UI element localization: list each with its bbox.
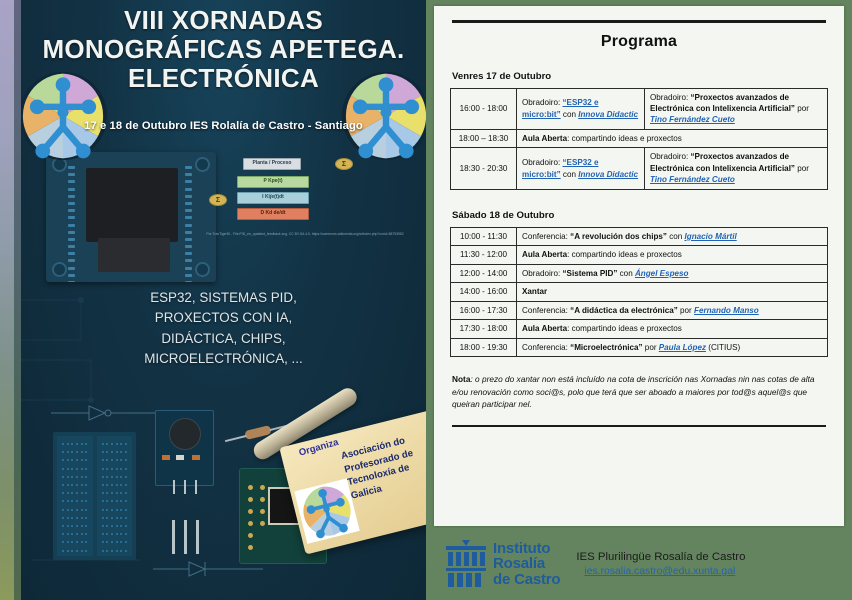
- session-suffix: : compartindo ideas e proxectos: [567, 250, 682, 259]
- keyword-line-1: ESP32, SISTEMAS PID,: [21, 288, 426, 308]
- top-divider-rule: [452, 20, 826, 23]
- row-session: Conferencia: “A didáctica da electrónica…: [517, 301, 828, 319]
- poster-subtitle: 17 e 18 de Outubro IES Rolalía de Castro…: [21, 120, 426, 132]
- session-suffix: (CITIUS): [706, 343, 740, 352]
- row-time: 10:00 - 11:30: [451, 227, 517, 245]
- sensor-resistor: [162, 455, 170, 460]
- friday-heading: Venres 17 de Outubro: [452, 71, 828, 82]
- poster-title: VIII XORNADAS MONOGRÁFICAS APETEGA. ELEC…: [21, 6, 426, 93]
- session-speaker-link[interactable]: Paula López: [659, 343, 706, 352]
- session-title: “Sistema PID”: [563, 269, 618, 278]
- esp32-chip: [86, 168, 178, 242]
- board-hole: [195, 157, 210, 172]
- row-session-full: Aula Aberta: compartindo ideas e proxect…: [517, 129, 828, 147]
- session-speaker-link[interactable]: Fernando Manso: [694, 306, 759, 315]
- session-speaker-link[interactable]: Tino Fernández Cueto: [650, 175, 735, 184]
- pid-sum-node-input: Σ: [209, 194, 227, 206]
- school-email-link[interactable]: ies.rosalia.castro@edu.xunta.gal: [584, 566, 745, 577]
- friday-schedule-table: 16:00 - 18:00 Obradoiro: “ESP32 e micro:…: [450, 88, 828, 190]
- table-row: 18:30 - 20:30 Obradoiro: “ESP32 e micro:…: [451, 148, 828, 189]
- session-prefix: Obradoiro:: [522, 269, 563, 278]
- event-poster: VIII XORNADAS MONOGRÁFICAS APETEGA. ELEC…: [0, 0, 426, 600]
- row-session: Xantar: [517, 283, 828, 301]
- school-name: IES Plurilingüe Rosalía de Castro: [576, 551, 745, 563]
- program-title: Programa: [450, 33, 828, 51]
- row-session: Obradoiro: “Sistema PID” con Ángel Espes…: [517, 264, 828, 282]
- row-session: Conferencia: “Microelectrónica” por Paul…: [517, 338, 828, 356]
- session-join: por: [643, 343, 659, 352]
- session-title: Aula Aberta: [522, 250, 567, 259]
- nota-body: : o prezo do xantar non está incluído na…: [452, 374, 815, 409]
- sensor-can: [169, 418, 201, 450]
- page-footer: Instituto Rosalía de Castro IES Plurilin…: [426, 528, 852, 600]
- logo-line-3: de Castro: [493, 572, 560, 587]
- session-speaker-link[interactable]: Ángel Espeso: [635, 269, 689, 278]
- bottom-divider-rule: [452, 425, 826, 428]
- session-title: Xantar: [522, 287, 547, 296]
- sensor-module-image: [155, 410, 214, 486]
- session-prefix: Conferencia:: [522, 343, 570, 352]
- row-time: 12:00 - 14:00: [451, 264, 517, 282]
- row-session: Conferencia: “A revolución dos chips” co…: [517, 227, 828, 245]
- row-time: 18:00 - 19:30: [451, 338, 517, 356]
- footer-contact: IES Plurilingüe Rosalía de Castro ies.ro…: [576, 551, 745, 577]
- row-time: 14:00 - 16:00: [451, 283, 517, 301]
- instituto-wordmark: Instituto Rosalía de Castro: [493, 541, 560, 587]
- poster-title-line2: MONOGRÁFICAS APETEGA.: [21, 35, 426, 64]
- board-pin-row-right: [185, 166, 194, 282]
- table-row: 18:00 – 18:30 Aula Aberta: compartindo i…: [451, 129, 828, 147]
- breadboard-holes: [101, 440, 129, 552]
- sensor-pin: [184, 480, 186, 494]
- session-prefix: Obradoiro:: [650, 152, 691, 161]
- board-hole: [195, 262, 210, 277]
- row-time: 17:30 - 18:00: [451, 320, 517, 338]
- saturday-heading: Sábado 18 de Outubro: [452, 210, 828, 221]
- session-speaker-link[interactable]: Tino Fernández Cueto: [650, 115, 735, 124]
- session-speaker-link[interactable]: Ignacio Mártil: [685, 232, 737, 241]
- row-session: Aula Aberta: compartindo ideas e proxect…: [517, 246, 828, 264]
- program-sheet: Programa Venres 17 de Outubro 16:00 - 18…: [434, 6, 844, 526]
- logo-line-1: Instituto: [493, 541, 560, 556]
- row-session-mid: Obradoiro: “ESP32 e micro:bit” con Innov…: [517, 88, 645, 129]
- row-session-right: Obradoiro: “Proxectos avanzados de Elect…: [645, 88, 828, 129]
- session-join: con: [617, 269, 635, 278]
- session-title: “A didáctica da electrónica”: [570, 306, 678, 315]
- session-join: con: [561, 170, 579, 179]
- program-panel: Programa Venres 17 de Outubro 16:00 - 18…: [426, 0, 852, 600]
- esp32-module: [98, 238, 170, 272]
- row-time: 18:30 - 20:30: [451, 148, 517, 189]
- row-session-mid: Obradoiro: “ESP32 e micro:bit” con Innov…: [517, 148, 645, 189]
- building-icon: [444, 540, 488, 588]
- poster-canvas: VIII XORNADAS MONOGRÁFICAS APETEGA. ELEC…: [21, 0, 426, 600]
- table-row: 12:00 - 14:00Obradoiro: “Sistema PID” co…: [451, 264, 828, 282]
- session-join: por: [678, 306, 694, 315]
- pid-i-block: I Ki∫e(t)dt: [237, 192, 309, 204]
- table-row: 14:00 - 16:00Xantar: [451, 283, 828, 301]
- esp32-board-image: [46, 152, 216, 282]
- session-title: Aula Aberta: [522, 324, 567, 333]
- row-session-right: Obradoiro: “Proxectos avanzados de Elect…: [645, 148, 828, 189]
- session-join: con: [667, 232, 685, 241]
- session-prefix: Obradoiro:: [522, 98, 563, 107]
- row-time: 16:00 - 17:30: [451, 301, 517, 319]
- nota-text: Nota: o prezo do xantar non está incluíd…: [452, 373, 826, 410]
- nota-label: Nota: [452, 374, 470, 384]
- session-prefix: Obradoiro:: [522, 158, 563, 167]
- breadboard-column: [57, 436, 93, 556]
- session-speaker-link[interactable]: Innova Didactic: [578, 170, 638, 179]
- session-title: “Microelectrónica”: [570, 343, 642, 352]
- sensor-pin: [173, 480, 175, 494]
- screenshot-root: VIII XORNADAS MONOGRÁFICAS APETEGA. ELEC…: [0, 0, 852, 600]
- instituto-logo: Instituto Rosalía de Castro: [444, 540, 560, 588]
- table-row: 11:30 - 12:00Aula Aberta: compartindo id…: [451, 246, 828, 264]
- image-attribution-text: Por TravTigerDI - File:PID_en_updated_fe…: [205, 232, 405, 237]
- breadboard-image: [53, 432, 136, 560]
- board-pin-row-left: [68, 166, 77, 282]
- session-prefix: Conferencia:: [522, 232, 570, 241]
- session-speaker-link[interactable]: Innova Didactic: [578, 110, 638, 119]
- inverter-gate-symbol: [51, 404, 171, 422]
- session-label: Aula Aberta: [522, 134, 567, 143]
- table-row: 18:00 - 19:30Conferencia: “Microelectrón…: [451, 338, 828, 356]
- session-prefix: Conferencia:: [522, 306, 570, 315]
- session-text: : compartindo ideas e proxectos: [567, 134, 682, 143]
- keyword-line-4: MICROELECTRÓNICA, ...: [21, 349, 426, 369]
- pid-block-diagram: Planta / Proceso P Kpe(t) I Ki∫e(t)dt D …: [217, 158, 407, 230]
- poster-title-line1: VIII XORNADAS: [21, 6, 426, 35]
- breadboard-holes: [61, 440, 89, 552]
- poster-edge-gradient: [0, 0, 14, 600]
- keyword-line-3: DIDÁCTICA, CHIPS,: [21, 329, 426, 349]
- sensor-capacitor: [176, 455, 184, 460]
- sensor-pin: [195, 480, 197, 494]
- row-time: 16:00 - 18:00: [451, 88, 517, 129]
- header-pins-image: [172, 520, 199, 554]
- table-row: 17:30 - 18:00Aula Aberta: compartindo id…: [451, 320, 828, 338]
- sensor-resistor: [192, 455, 200, 460]
- session-title: “A revolución dos chips”: [570, 232, 667, 241]
- table-row: 16:00 - 17:30Conferencia: “A didáctica d…: [451, 301, 828, 319]
- keyword-line-2: PROXECTOS CON IA,: [21, 308, 426, 328]
- pid-d-block: D Kd de/dt: [237, 208, 309, 220]
- session-prefix: Obradoiro:: [650, 93, 691, 102]
- board-hole: [52, 262, 67, 277]
- session-join: por: [795, 164, 809, 173]
- poster-keywords: ESP32, SISTEMAS PID, PROXECTOS CON IA, D…: [21, 288, 426, 370]
- logo-line-2: Rosalía: [493, 556, 560, 571]
- poster-edge-gradient-inner: [14, 0, 21, 600]
- pid-p-block: P Kpe(t): [237, 176, 309, 188]
- poster-title-line3: ELECTRÓNICA: [21, 64, 426, 93]
- session-join: con: [561, 110, 579, 119]
- saturday-schedule-table: 10:00 - 11:30Conferencia: “A revolución …: [450, 227, 828, 357]
- pid-plant-block: Planta / Proceso: [243, 158, 301, 170]
- session-join: por: [795, 104, 809, 113]
- session-suffix: : compartindo ideas e proxectos: [567, 324, 682, 333]
- table-row: 16:00 - 18:00 Obradoiro: “ESP32 e micro:…: [451, 88, 828, 129]
- row-session: Aula Aberta: compartindo ideas e proxect…: [517, 320, 828, 338]
- row-time: 18:00 – 18:30: [451, 129, 517, 147]
- table-row: 10:00 - 11:30Conferencia: “A revolución …: [451, 227, 828, 245]
- breadboard-column: [97, 436, 133, 556]
- row-time: 11:30 - 12:00: [451, 246, 517, 264]
